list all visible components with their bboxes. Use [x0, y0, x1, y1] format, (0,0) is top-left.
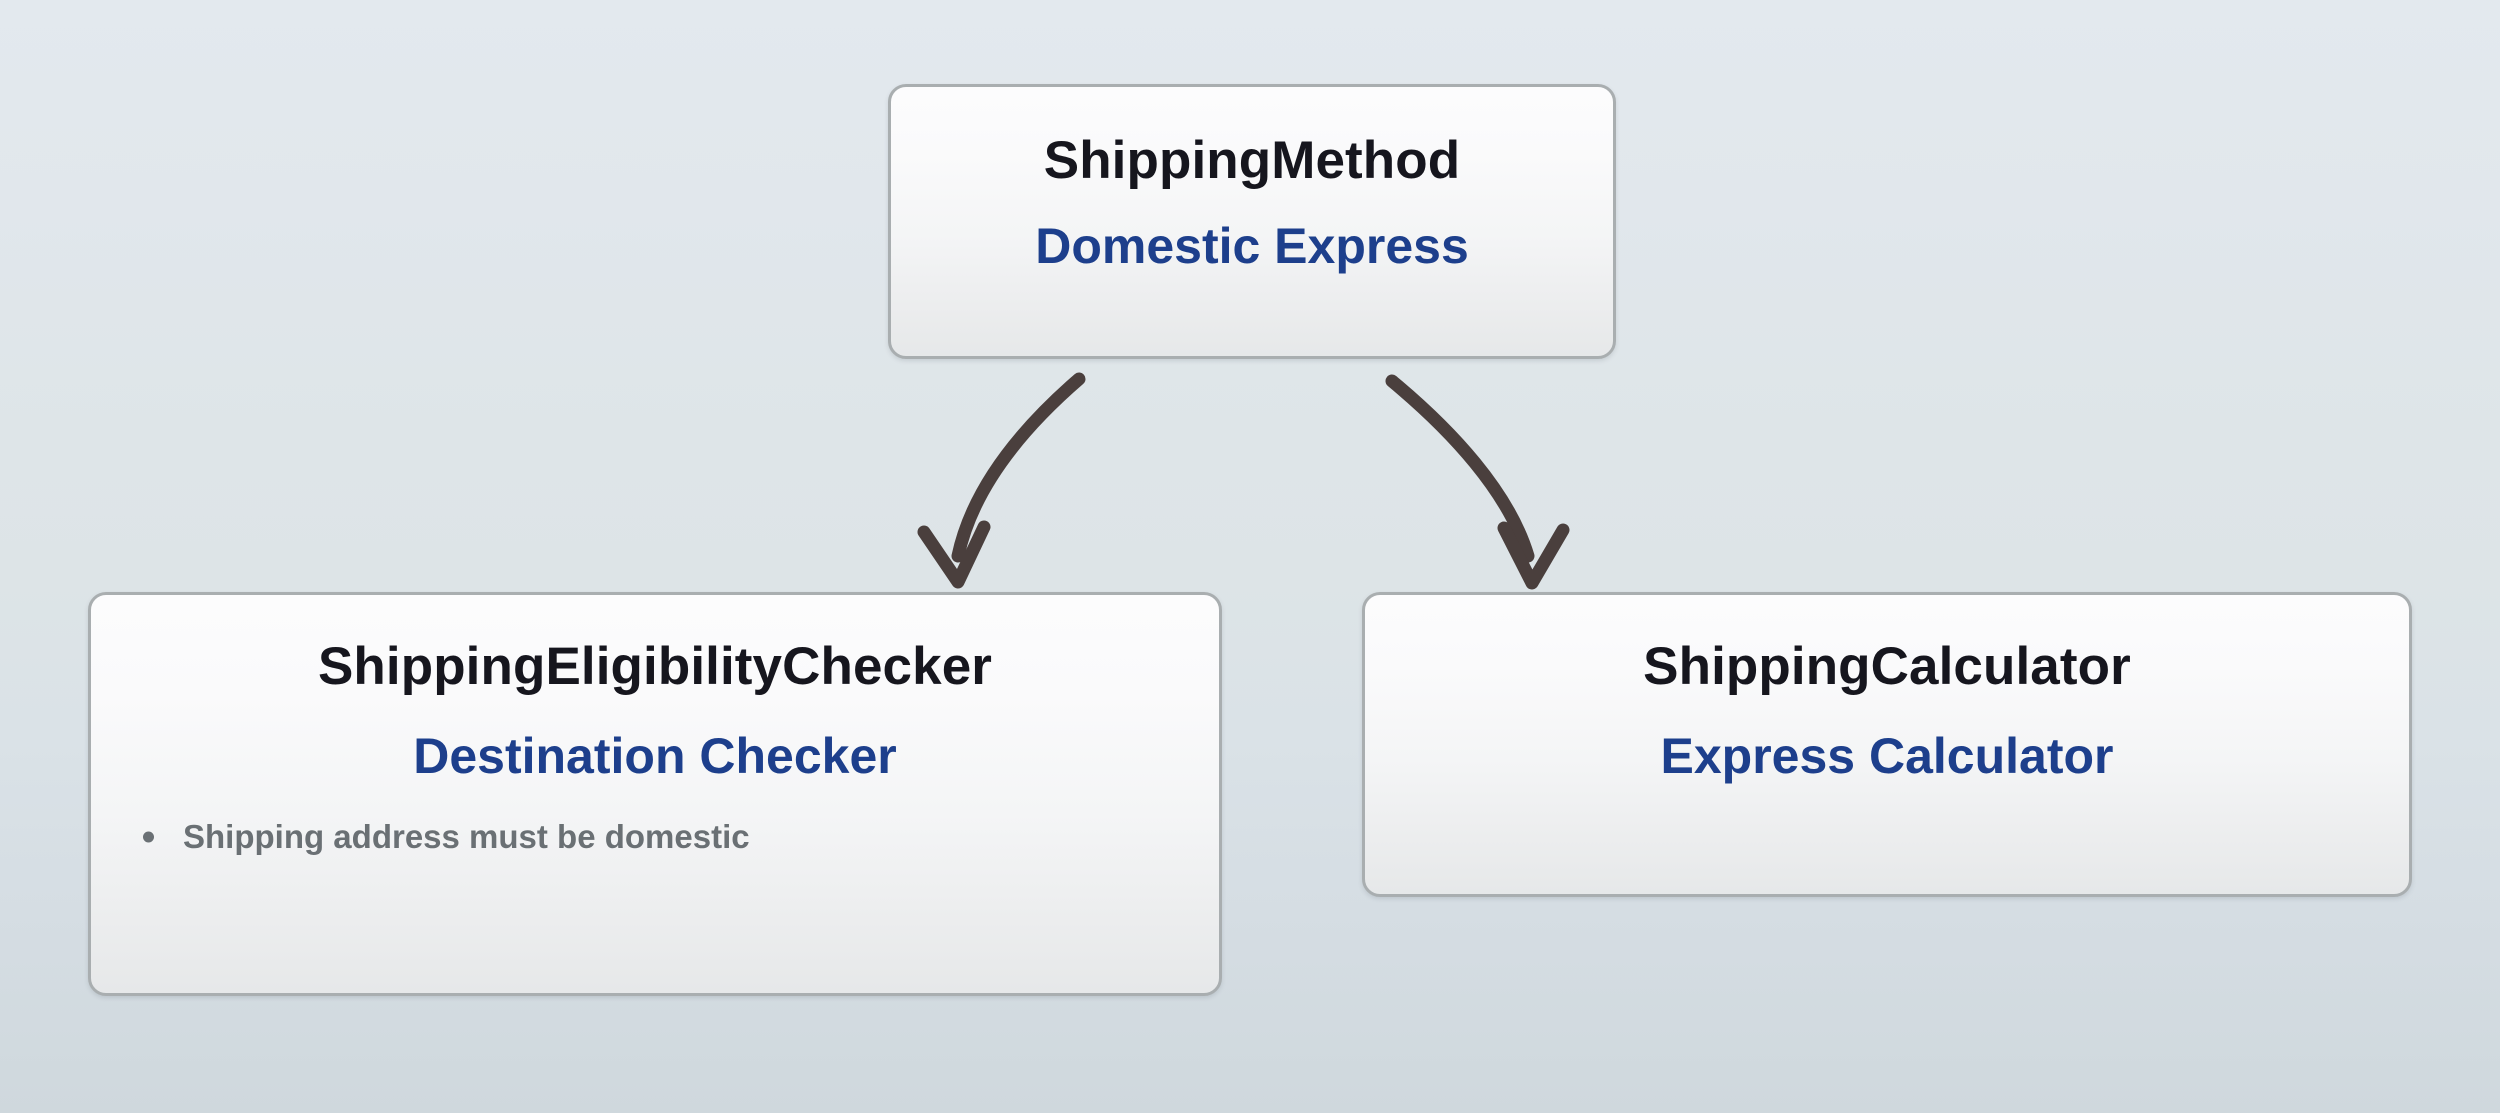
node-shipping-calculator[interactable]: ShippingCalculator Express Calculator: [1362, 592, 2412, 897]
node-shipping-eligibility-checker-subtitle: Destination Checker: [413, 727, 896, 785]
node-shipping-eligibility-checker[interactable]: ShippingEligibilityChecker Destination C…: [88, 592, 1222, 996]
node-shipping-calculator-title: ShippingCalculator: [1643, 637, 2131, 697]
node-rule-label: Shipping address must be domestic: [183, 818, 750, 855]
edge-root-to-calculator: [1392, 381, 1563, 583]
diagram-canvas: ShippingMethod Domestic Express Shipping…: [0, 0, 2500, 1113]
node-shipping-calculator-subtitle: Express Calculator: [1661, 727, 2114, 785]
bullet-icon: [143, 832, 154, 843]
edge-root-to-checker: [924, 379, 1079, 582]
edge-root-to-checker-line: [958, 379, 1079, 556]
node-shipping-eligibility-checker-title: ShippingEligibilityChecker: [318, 637, 992, 697]
edge-root-to-calculator-line: [1392, 381, 1528, 556]
node-shipping-eligibility-checker-rules: Shipping address must be domestic: [91, 817, 1219, 857]
node-shipping-method[interactable]: ShippingMethod Domestic Express: [888, 84, 1616, 359]
edge-root-to-checker-arrowhead: [924, 527, 984, 582]
node-shipping-method-subtitle: Domestic Express: [1035, 217, 1469, 275]
list-item: Shipping address must be domestic: [143, 817, 1197, 857]
edge-root-to-calculator-arrowhead: [1504, 528, 1563, 583]
node-shipping-method-title: ShippingMethod: [1044, 131, 1460, 191]
